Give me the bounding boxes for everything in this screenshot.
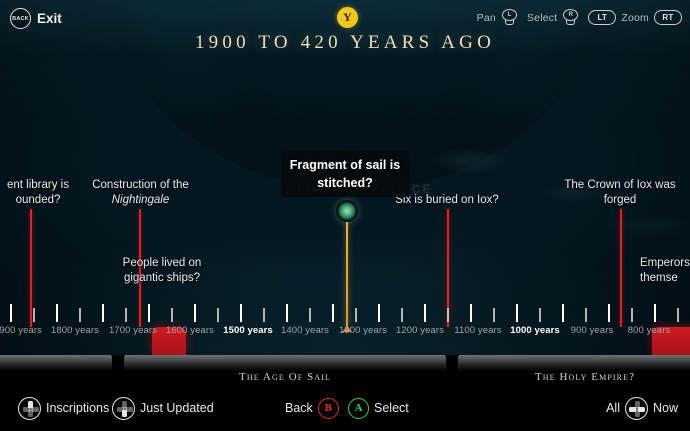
axis-tick-8	[194, 304, 196, 322]
event-label-line2: themse	[640, 271, 690, 286]
axis-tick-9	[217, 308, 219, 322]
hint-back[interactable]: Back B	[285, 393, 339, 423]
event-label-line1: ent library is	[0, 178, 88, 193]
bottom-bar: The Age of Sail The Holy Empire? Inscrip…	[0, 355, 690, 431]
axis-tick-28	[654, 304, 656, 322]
axis-label-11: 800 years	[628, 325, 671, 336]
rt-trigger-icon: RT	[654, 10, 682, 25]
axis-label-6: 1300 years	[339, 325, 387, 336]
axis-tick-24	[562, 304, 564, 322]
axis-tick-25	[585, 308, 587, 322]
event-tooltip-text: Fragment of sail is stitched?	[290, 158, 400, 190]
dpad-down-icon	[112, 397, 135, 420]
event-label-line2: gigantic ships?	[114, 271, 210, 286]
hint-inscriptions[interactable]: Inscriptions	[18, 393, 109, 423]
axis-tick-0	[10, 304, 12, 322]
back-button-glyph: BACK	[12, 16, 29, 22]
axis-tick-27	[631, 308, 633, 322]
axis-label-8: 1100 years	[454, 325, 501, 336]
axis-label-7: 1200 years	[396, 325, 444, 336]
select-label: Select	[527, 12, 557, 24]
pan-label: Pan	[477, 12, 496, 24]
event-tooltip: Fragment of sail is stitched?	[281, 151, 409, 197]
hint-label-select: Select	[374, 401, 409, 415]
axis-tick-26	[608, 304, 610, 322]
axis-tick-6	[148, 304, 150, 322]
event-label-line1: Six is buried on Iox?	[393, 193, 501, 208]
event-label-line1: Construction of the	[78, 178, 203, 193]
hint-label-back: Back	[285, 401, 313, 415]
era-strip	[0, 355, 690, 371]
top-bar: BACK Exit Y Pan L Select R	[0, 0, 690, 34]
era-segment-2[interactable]	[458, 355, 690, 371]
era-segment-1[interactable]	[124, 355, 446, 371]
timeline-screen: WITHERED PALACE BACK Exit Y Pan L Select	[0, 0, 690, 431]
hint-select[interactable]: A Select	[348, 393, 409, 423]
axis-label-9: 1000 years	[510, 325, 560, 336]
zoom-label: Zoom	[621, 12, 649, 24]
lt-trigger-icon: LT	[588, 10, 616, 25]
axis-tick-10	[240, 304, 242, 322]
event-label-line1: The Crown of Iox was	[556, 178, 684, 193]
page-title: 1900 TO 420 YEARS AGO	[0, 32, 690, 54]
axis-tick-13	[309, 308, 311, 322]
hint-label-all: All	[606, 401, 620, 415]
axis-tick-14	[332, 304, 334, 322]
axis-tick-5	[125, 308, 127, 322]
event-label: Emperors themse	[640, 256, 690, 285]
control-hint-select[interactable]: Select R	[527, 9, 579, 26]
axis-label-3: 1600 years	[166, 325, 214, 336]
axis-tick-16	[378, 304, 380, 322]
axis-tick-23	[539, 308, 541, 322]
b-button-glyph: B	[325, 402, 332, 414]
back-button-icon[interactable]: BACK	[10, 8, 31, 29]
event-label: People lived on gigantic ships?	[114, 256, 210, 285]
event-label: Six is buried on Iox?	[393, 193, 501, 208]
hint-just-updated[interactable]: Just Updated	[112, 393, 214, 423]
hint-range[interactable]: All Now	[606, 393, 678, 423]
axis-label-2: 1700 years	[109, 325, 157, 336]
axis-tick-15	[355, 308, 357, 322]
control-hint-pan[interactable]: Pan L	[477, 9, 518, 26]
b-button-icon[interactable]: B	[318, 398, 339, 419]
axis-label-4: 1500 years	[223, 325, 273, 336]
lt-glyph: LT	[597, 13, 607, 22]
axis-tick-18	[424, 304, 426, 322]
event-label: Construction of the Nightingale	[78, 178, 203, 207]
control-hint-zoom[interactable]: LT Zoom RT	[588, 10, 682, 25]
axis-tick-7	[171, 308, 173, 322]
era-segment-0[interactable]	[0, 355, 112, 371]
era-divider-0	[111, 355, 125, 370]
axis-label-5: 1400 years	[281, 325, 329, 336]
axis-tick-1	[33, 308, 35, 322]
axis-tick-2	[56, 304, 58, 322]
event-label-line2: ounded?	[0, 193, 88, 208]
era-label-holy-empire: The Holy Empire?	[535, 371, 635, 383]
timeline-cursor-node[interactable]	[336, 200, 358, 222]
axis-tick-11	[263, 308, 265, 322]
y-button-glyph: Y	[343, 10, 352, 25]
era-divider-1	[445, 355, 459, 370]
footer-hints: Inscriptions Just Updated Back B A Selec…	[0, 393, 690, 423]
exit-control[interactable]: BACK Exit	[10, 8, 62, 29]
axis-tick-3	[79, 308, 81, 322]
hint-label-just-updated: Just Updated	[140, 401, 214, 415]
axis-label-1: 1800 years	[51, 325, 99, 336]
era-label-age-of-sail: The Age of Sail	[239, 371, 331, 383]
y-button-icon[interactable]: Y	[337, 7, 358, 28]
axis-tick-29	[677, 308, 679, 322]
axis-tick-22	[516, 304, 518, 322]
controls-hints: Pan L Select R LT Zoom RT	[477, 9, 682, 26]
event-label-line1: Emperors	[640, 256, 690, 271]
axis-tick-4	[102, 304, 104, 322]
dpad-up-icon	[18, 397, 41, 420]
exit-label: Exit	[37, 11, 62, 26]
axis-tick-17	[401, 308, 403, 322]
a-button-glyph: A	[355, 402, 363, 414]
axis-tick-21	[493, 308, 495, 322]
axis-label-10: 900 years	[571, 325, 614, 336]
event-label-line2: forged	[556, 193, 684, 208]
hint-label-now: Now	[653, 401, 678, 415]
rt-glyph: RT	[662, 13, 673, 22]
hint-label-inscriptions: Inscriptions	[46, 401, 109, 415]
left-stick-icon: L	[501, 9, 518, 26]
axis-tick-20	[470, 304, 472, 322]
axis-label-0: 1900 years	[0, 325, 42, 336]
event-label-line2: Nightingale	[112, 194, 170, 206]
event-label-line1: People lived on	[114, 256, 210, 271]
a-button-icon[interactable]: A	[348, 398, 369, 419]
timeline-axis: 1900 years1800 years1700 years1600 years…	[0, 300, 690, 355]
right-stick-icon: R	[562, 9, 579, 26]
axis-tick-12	[286, 304, 288, 322]
event-label: The Crown of Iox was forged	[556, 178, 684, 207]
dpad-leftright-icon	[625, 397, 648, 420]
event-label: ent library is ounded?	[0, 178, 88, 207]
axis-tick-19	[447, 308, 449, 322]
